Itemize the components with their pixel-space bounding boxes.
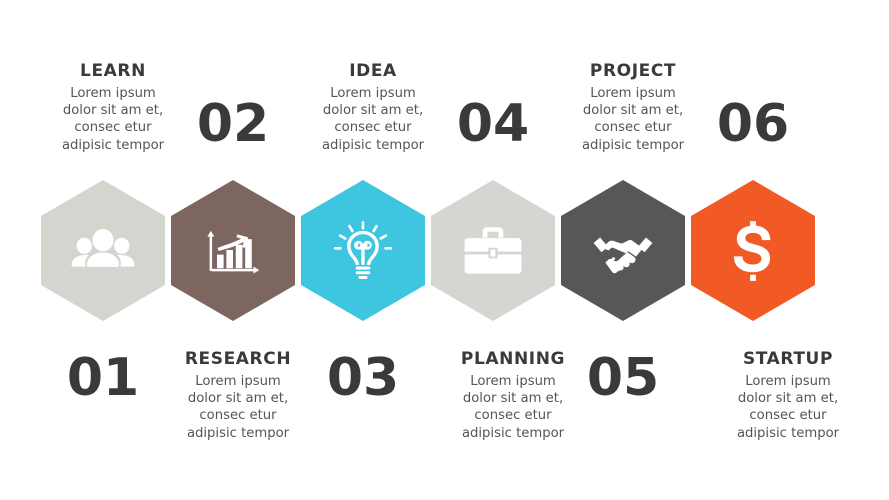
body-line: adipisic tempor xyxy=(62,138,164,153)
hexagon-step-03[interactable] xyxy=(301,180,425,321)
body-line: consec etur xyxy=(749,408,826,423)
dollar-sign-icon xyxy=(720,218,786,284)
body-line: adipisic tempor xyxy=(462,426,564,441)
body-line: Lorem ipsum xyxy=(745,374,831,389)
step-body-learn: Lorem ipsum dolor sit am et, consec etur… xyxy=(38,85,188,155)
bar-chart-growth-icon xyxy=(200,218,266,284)
hexagon-step-06[interactable] xyxy=(691,180,815,321)
step-title-learn: LEARN xyxy=(38,62,188,82)
body-line: consec etur xyxy=(334,120,411,135)
body-line: Lorem ipsum xyxy=(590,86,676,101)
step-text-idea: IDEA Lorem ipsum dolor sit am et, consec… xyxy=(298,62,448,154)
body-line: Lorem ipsum xyxy=(330,86,416,101)
step-body-project: Lorem ipsum dolor sit am et, consec etur… xyxy=(558,85,708,155)
step-title-idea: IDEA xyxy=(298,62,448,82)
hexagon-step-05[interactable] xyxy=(561,180,685,321)
people-group-icon xyxy=(70,218,136,284)
step-body-startup: Lorem ipsum dolor sit am et, consec etur… xyxy=(713,373,863,443)
step-number-04: 04 xyxy=(428,98,558,150)
body-line: consec etur xyxy=(74,120,151,135)
body-line: Lorem ipsum xyxy=(195,374,281,389)
body-line: consec etur xyxy=(474,408,551,423)
body-line: dolor sit am et, xyxy=(323,103,423,118)
step-number-06: 06 xyxy=(688,98,818,150)
step-text-startup: STARTUP Lorem ipsum dolor sit am et, con… xyxy=(713,350,863,442)
infographic-canvas: LEARN Lorem ipsum dolor sit am et, conse… xyxy=(0,0,889,500)
briefcase-icon xyxy=(460,218,526,284)
body-line: Lorem ipsum xyxy=(470,374,556,389)
body-line: adipisic tempor xyxy=(187,426,289,441)
step-number-05: 05 xyxy=(558,352,688,404)
step-number-02: 02 xyxy=(168,98,298,150)
body-line: adipisic tempor xyxy=(582,138,684,153)
step-title-startup: STARTUP xyxy=(713,350,863,370)
body-line: dolor sit am et, xyxy=(63,103,163,118)
step-number-03: 03 xyxy=(298,352,428,404)
body-line: Lorem ipsum xyxy=(70,86,156,101)
step-title-research: RESEARCH xyxy=(163,350,313,370)
handshake-icon xyxy=(590,218,656,284)
step-body-research: Lorem ipsum dolor sit am et, consec etur… xyxy=(163,373,313,443)
lightbulb-icon xyxy=(330,218,396,284)
step-title-project: PROJECT xyxy=(558,62,708,82)
step-text-project: PROJECT Lorem ipsum dolor sit am et, con… xyxy=(558,62,708,154)
step-text-learn: LEARN Lorem ipsum dolor sit am et, conse… xyxy=(38,62,188,154)
body-line: adipisic tempor xyxy=(737,426,839,441)
body-line: consec etur xyxy=(199,408,276,423)
hexagon-step-04[interactable] xyxy=(431,180,555,321)
hexagon-step-02[interactable] xyxy=(171,180,295,321)
body-line: dolor sit am et, xyxy=(738,391,838,406)
body-line: dolor sit am et, xyxy=(188,391,288,406)
body-line: consec etur xyxy=(594,120,671,135)
step-body-idea: Lorem ipsum dolor sit am et, consec etur… xyxy=(298,85,448,155)
hexagon-step-01[interactable] xyxy=(41,180,165,321)
step-text-research: RESEARCH Lorem ipsum dolor sit am et, co… xyxy=(163,350,313,442)
step-number-01: 01 xyxy=(38,352,168,404)
body-line: adipisic tempor xyxy=(322,138,424,153)
body-line: dolor sit am et, xyxy=(583,103,683,118)
body-line: dolor sit am et, xyxy=(463,391,563,406)
